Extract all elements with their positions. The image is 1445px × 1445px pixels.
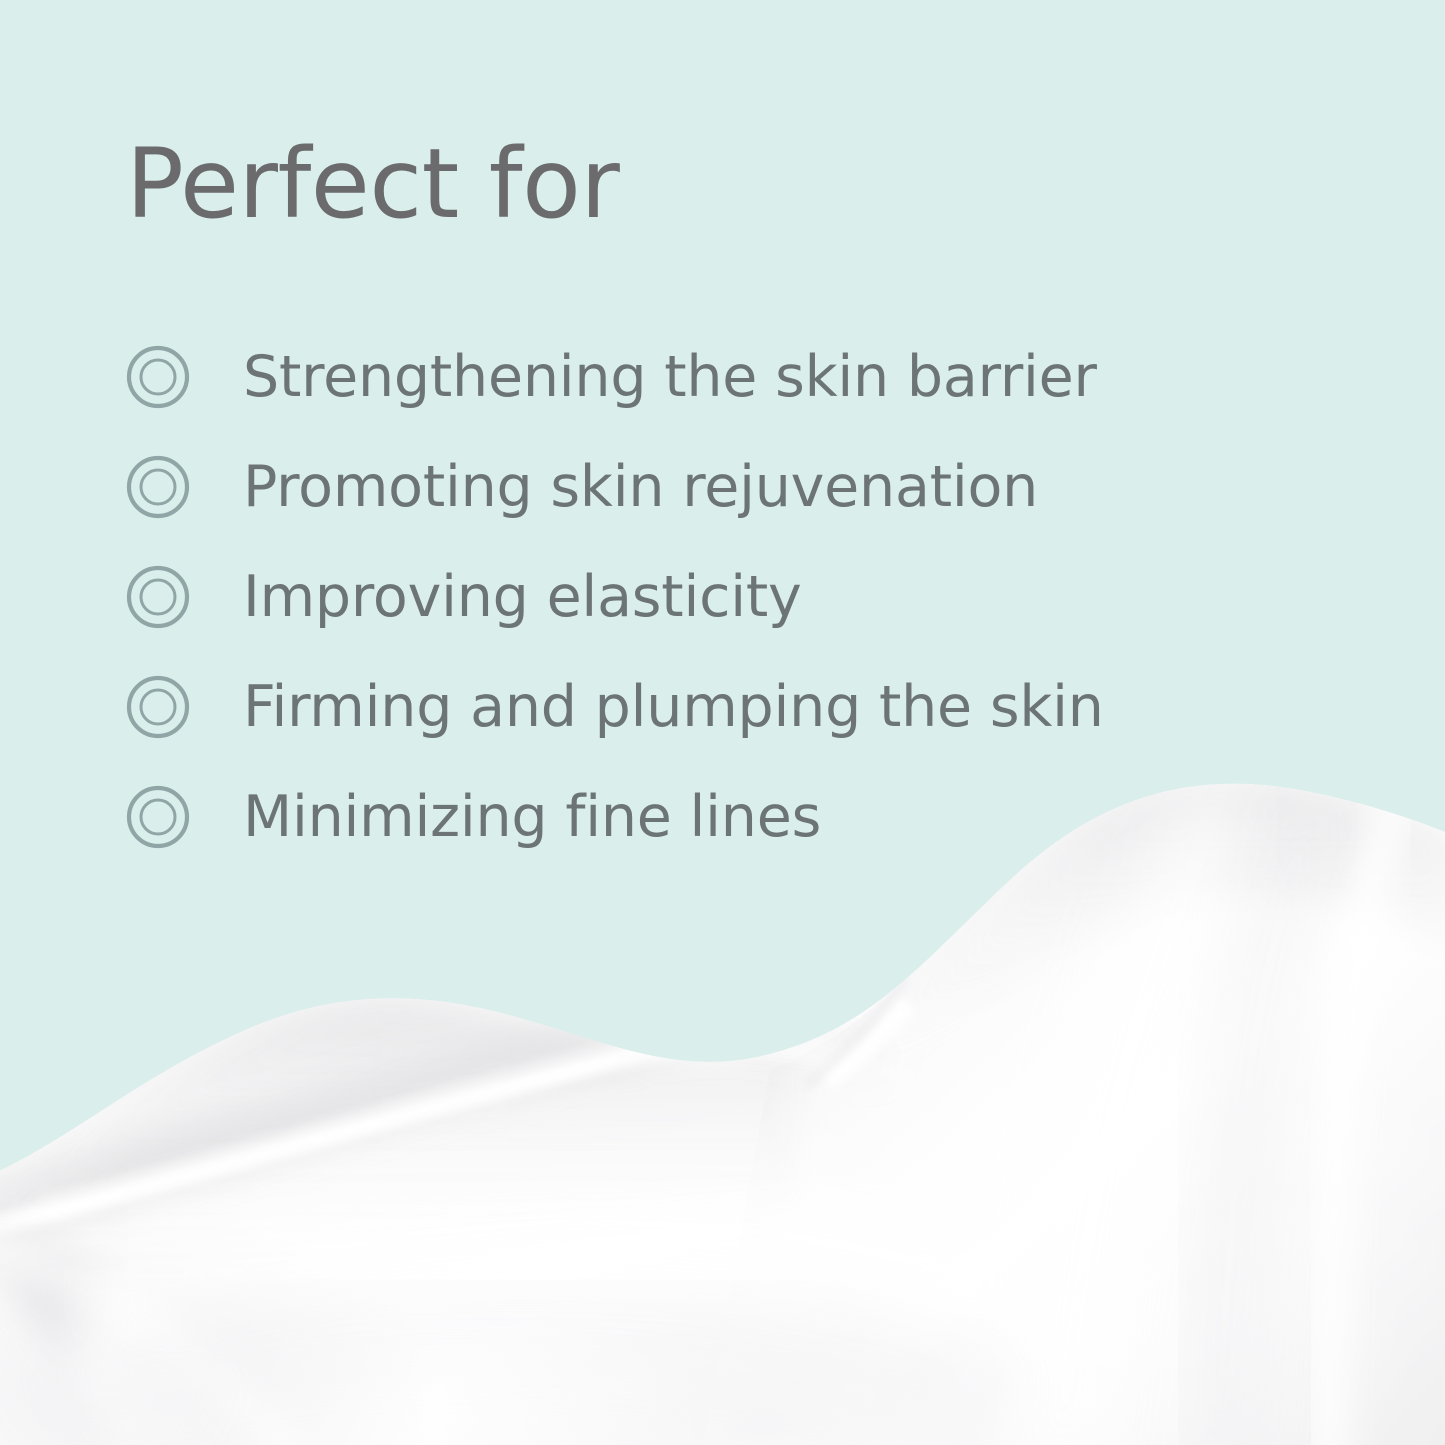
list-item-label: Improving elasticity xyxy=(243,569,802,626)
list-item-label: Minimizing fine lines xyxy=(243,789,821,846)
list-item-label: Strengthening the skin barrier xyxy=(243,349,1097,406)
double-ring-icon xyxy=(126,565,190,629)
page-title: Perfect for xyxy=(126,136,619,232)
double-ring-icon xyxy=(126,455,190,519)
list-item: Firming and plumping the skin xyxy=(126,652,1326,762)
double-ring-icon xyxy=(126,345,190,409)
list-item: Strengthening the skin barrier xyxy=(126,322,1326,432)
list-item-label: Promoting skin rejuvenation xyxy=(243,459,1038,516)
list-item: Minimizing fine lines xyxy=(126,762,1326,872)
list-item: Promoting skin rejuvenation xyxy=(126,432,1326,542)
double-ring-icon xyxy=(126,675,190,739)
list-item: Improving elasticity xyxy=(126,542,1326,652)
list-item-label: Firming and plumping the skin xyxy=(243,679,1104,736)
double-ring-icon xyxy=(126,785,190,849)
benefits-list: Strengthening the skin barrier Promoting… xyxy=(126,322,1326,872)
product-benefits-banner: Perfect for Strengthening the skin barri… xyxy=(0,0,1445,1445)
